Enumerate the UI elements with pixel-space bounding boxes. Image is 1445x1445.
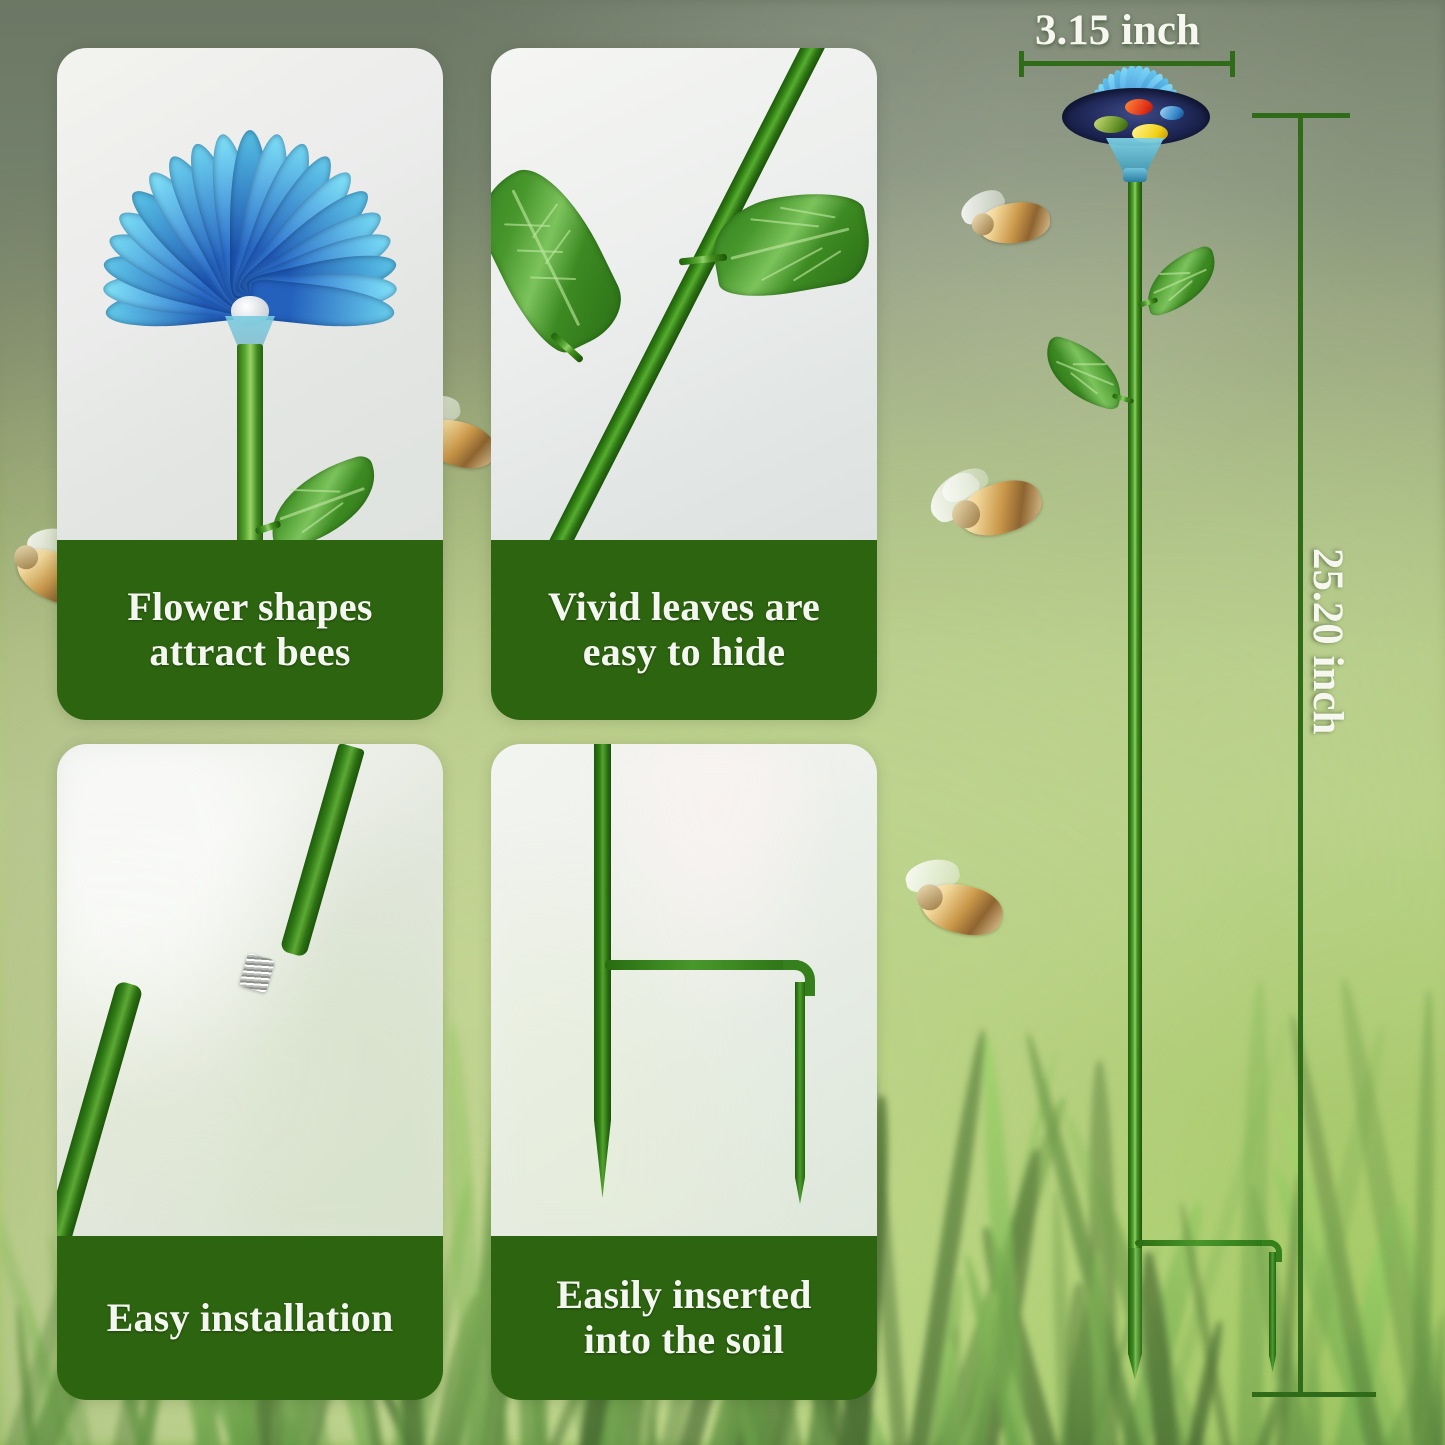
panel-soil-caption: Easily inserted into the soil [491, 1236, 877, 1400]
panel-installation-caption-line-1: Easy installation [107, 1296, 394, 1341]
measurement-height-label: 25.20 inch [1303, 548, 1352, 734]
product-leaf-lower-left [1036, 335, 1132, 412]
measurement-width-line [1019, 61, 1235, 66]
product-flower-head [1010, 66, 1260, 186]
panel-leaves-caption-line-1: Vivid leaves are [548, 584, 820, 629]
panel-soil-caption-line-2: into the soil [584, 1317, 784, 1362]
panel-soil-caption-line-1: Easily inserted [556, 1272, 811, 1317]
panel-leaves-photo [491, 48, 877, 540]
measurement-width-cap-left [1019, 51, 1024, 77]
panel-inserted-soil[interactable]: Easily inserted into the soil [491, 744, 877, 1400]
measurement-height-cap-top [1252, 113, 1350, 118]
measurement-width-cap-right [1230, 51, 1235, 77]
panel-vivid-leaves[interactable]: Vivid leaves are easy to hide [491, 48, 877, 720]
product-stake-second-prong [1269, 1252, 1276, 1372]
product-infographic: 3.15 inch 25.20 inch F [0, 0, 1445, 1445]
product-stake-main-tip [1128, 1248, 1142, 1380]
panel-flower-shapes[interactable]: Flower shapes attract bees [57, 48, 443, 720]
panel-easy-installation[interactable]: Easy installation [57, 744, 443, 1400]
flower-marble-green [1094, 116, 1128, 133]
panel-soil-second-prong [795, 982, 805, 1204]
panel-installation-photo [57, 744, 443, 1236]
product-main-stem [1128, 175, 1142, 1250]
panel-flower-dish [63, 93, 437, 298]
panel-soil-photo [491, 744, 877, 1236]
panel-leaves-caption-line-2: easy to hide [583, 629, 785, 674]
panel-flower-caption-line-1: Flower shapes [127, 584, 372, 629]
panel-soil-arm [605, 960, 801, 970]
measurement-width-label: 3.15 inch [1035, 6, 1200, 55]
panel-flower-photo [57, 48, 443, 540]
flower-marble-blue [1160, 106, 1184, 120]
product-stake-arm [1135, 1240, 1275, 1246]
product-leaf-upper-right [1136, 244, 1226, 318]
flower-hub [1123, 168, 1147, 182]
measurement-height-cap-bottom [1252, 1392, 1376, 1397]
bee-flying-3 [947, 179, 1067, 270]
panel-leaves-leaf-left [491, 153, 634, 363]
panel-flower-stem [237, 344, 263, 540]
panel-flower-caption-line-2: attract bees [149, 629, 350, 674]
panel-flower-caption: Flower shapes attract bees [57, 540, 443, 720]
panel-leaves-caption: Vivid leaves are easy to hide [491, 540, 877, 720]
panel-soil-main-prong [594, 744, 611, 1198]
flower-marble-red [1125, 99, 1153, 115]
panel-installation-caption: Easy installation [57, 1236, 443, 1400]
measurement-height-line [1298, 115, 1303, 1397]
